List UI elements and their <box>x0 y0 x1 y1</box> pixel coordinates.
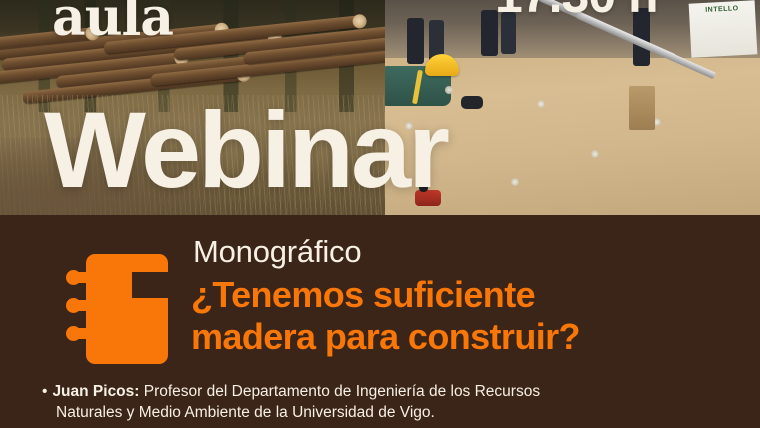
webinar-question-title: ¿Tenemos suficiente madera para construi… <box>191 274 751 358</box>
list-item: •Juan Picos: Profesor del Departamento d… <box>42 381 742 402</box>
fastener-dot <box>591 150 599 158</box>
webinar-poster: INTELLO aula 17.30 h Webinar Monográfico… <box>0 0 760 428</box>
bullet-icon: • <box>42 383 47 400</box>
worker-standing-left <box>407 18 424 64</box>
intello-package-label: INTELLO <box>689 0 758 57</box>
notebook-cover-label <box>132 272 180 298</box>
event-time: 17.30 h <box>495 0 658 20</box>
title-line-1: ¿Tenemos suficiente <box>191 274 751 316</box>
speaker-role-line-2-wrap: Naturales y Medio Ambiente de la Univers… <box>42 402 742 423</box>
brand-logo-aula: aula <box>52 0 173 44</box>
speaker-list: •Juan Picos: Profesor del Departamento d… <box>42 381 742 424</box>
kicker-monografico: Monográfico <box>193 236 361 269</box>
speaker-role-line-1: Profesor del Departamento de Ingeniería … <box>144 383 540 400</box>
cardboard-block <box>629 86 655 130</box>
notebook-icon <box>64 254 168 364</box>
notebook-body <box>86 254 168 364</box>
speaker-role-line-2: Naturales y Medio Ambiente de la Univers… <box>56 404 435 421</box>
speaker-name: Juan Picos: <box>52 383 139 400</box>
gloved-hand <box>461 96 483 109</box>
title-line-2: madera para construir? <box>191 316 751 358</box>
fastener-dot <box>511 178 519 186</box>
fastener-dot <box>537 100 545 108</box>
page-title: Webinar <box>44 96 447 204</box>
